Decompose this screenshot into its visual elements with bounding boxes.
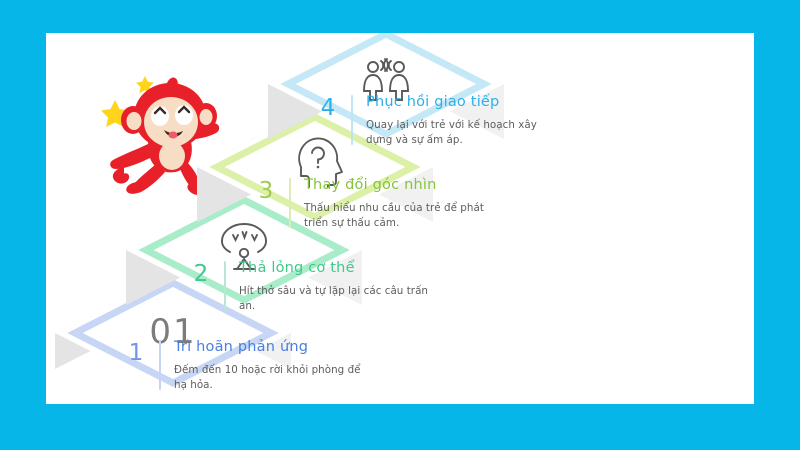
step-rule-1: [159, 340, 161, 390]
step-description-1: Đếm đến 10 hoặc rời khỏi phòng để hạ hỏa…: [174, 363, 364, 392]
step-rule-3: [289, 178, 291, 228]
step-title-3: Thay đổi góc nhìn: [304, 176, 494, 194]
step-description-2: Hít thở sâu và tự lặp lại các câu trấn a…: [239, 284, 429, 313]
step-number-3: 3: [249, 176, 283, 203]
step-rule-4: [351, 95, 353, 145]
step-description-4: Quay lại với trẻ với kế hoạch xây dựng v…: [366, 118, 556, 147]
white-content-card: .riserL { fill:#e4e4e4; } .riserR { fill…: [46, 33, 754, 404]
step-number-4: 4: [311, 93, 345, 120]
step-title-4: Phục hồi giao tiếp: [366, 93, 556, 111]
step-text-4: 4 Phục hồi giao tiếp Quay lại với trẻ vớ…: [311, 93, 556, 147]
step-number-1: 1: [119, 338, 153, 365]
slide-canvas: .riserL { fill:#e4e4e4; } .riserR { fill…: [0, 0, 800, 450]
step-text-3: 3 Thay đổi góc nhìn Thấu hiểu nhu cầu củ…: [249, 176, 494, 230]
step-title-1: Trì hoãn phản ứng: [174, 338, 364, 356]
step-rule-2: [224, 261, 226, 311]
step-description-3: Thấu hiểu nhu cầu của trẻ để phát triển …: [304, 201, 494, 230]
step-number-2: 2: [184, 259, 218, 286]
step-title-2: Thả lỏng cơ thể: [239, 259, 429, 277]
step-text-2: 2 Thả lỏng cơ thể Hít thở sâu và tự lặp …: [184, 259, 429, 313]
step-text-1: 1 Trì hoãn phản ứng Đếm đến 10 hoặc rời …: [119, 338, 364, 392]
